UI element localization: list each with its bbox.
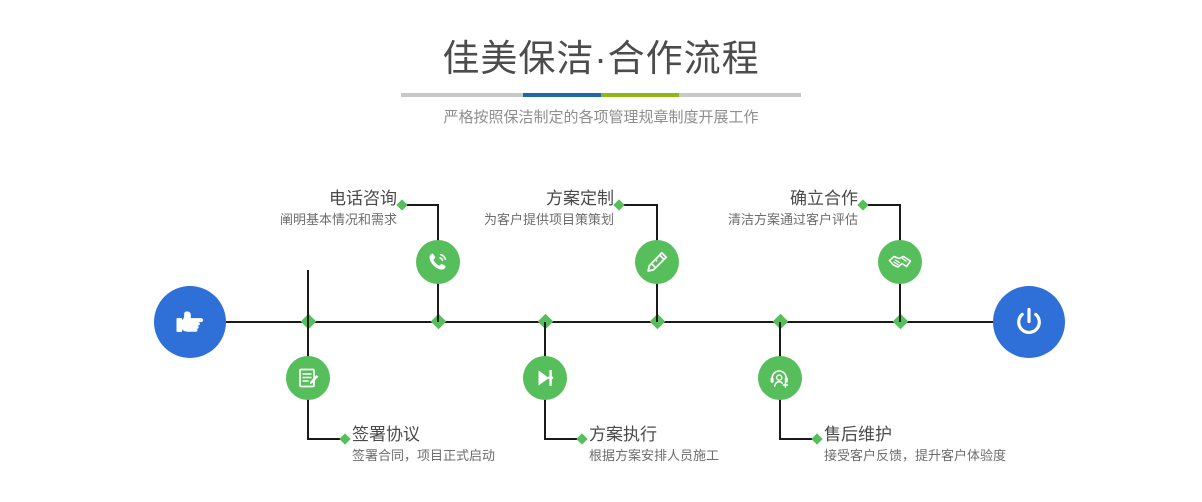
step-label-1: 电话咨询 阐明基本情况和需求 [280,188,397,230]
document-edit-icon [295,365,321,391]
divider-rule-left [401,93,523,97]
step-title-6: 售后维护 [824,424,1006,446]
divider-segment-green [601,93,679,97]
phone-call-icon [425,249,451,275]
step-icon-handshake[interactable] [878,240,922,284]
leader-dot-2 [339,433,350,444]
step-icon-document-edit[interactable] [286,356,330,400]
flow-start-marker [154,286,226,358]
pencil-ruler-icon [644,249,670,275]
handshake-icon [887,249,913,275]
flow-end-marker [993,286,1065,358]
step-title-2: 签署协议 [352,424,495,446]
divider-rule-right [679,93,801,97]
step-label-4: 方案执行 根据方案安排人员施工 [589,424,719,466]
leader-line-1 [405,204,439,206]
leader-line-4 [544,438,580,440]
leader-line-2 [307,438,343,440]
step-title-4: 方案执行 [589,424,719,446]
power-icon [1009,302,1049,342]
step-desc-1: 阐明基本情况和需求 [280,210,397,230]
step-label-5: 确立合作 清洁方案通过客户评估 [728,188,858,230]
leader-dot-5 [857,199,868,210]
step-icon-play-skip[interactable] [523,356,567,400]
step-desc-2: 签署合同，项目正式启动 [352,446,495,466]
play-skip-icon [532,365,558,391]
leader-dot-1 [396,199,407,210]
step-label-2: 签署协议 签署合同，项目正式启动 [352,424,495,466]
step-icon-pencil-ruler[interactable] [635,240,679,284]
divider-segment-blue [523,93,601,97]
page-subtitle: 严格按照保洁制定的各项管理规章制度开展工作 [0,107,1202,129]
leader-dot-4 [576,433,587,444]
step-label-6: 售后维护 接受客户反馈，提升客户体验度 [824,424,1006,466]
flowchart-canvas: 佳美保洁·合作流程 严格按照保洁制定的各项管理规章制度开展工作 [0,0,1202,502]
step-desc-6: 接受客户反馈，提升客户体验度 [824,446,1006,466]
leader-line-6 [779,438,815,440]
pointing-hand-icon [170,302,210,342]
leader-line-3 [622,204,658,206]
step-icon-phone-call[interactable] [416,240,460,284]
step-title-3: 方案定制 [484,188,614,210]
step-label-3: 方案定制 为客户提供项目策策划 [484,188,614,230]
step-icon-customer-service[interactable] [758,356,802,400]
step-desc-3: 为客户提供项目策策划 [484,210,614,230]
step-desc-4: 根据方案安排人员施工 [589,446,719,466]
leader-line-5 [866,204,901,206]
page-title: 佳美保洁·合作流程 [0,36,1202,82]
title-divider [401,93,801,97]
connector-stem-1 [307,270,309,322]
step-desc-5: 清洁方案通过客户评估 [728,210,858,230]
customer-service-icon [767,365,793,391]
leader-dot-3 [613,199,624,210]
step-title-5: 确立合作 [728,188,858,210]
leader-dot-6 [811,433,822,444]
step-title-1: 电话咨询 [280,188,397,210]
